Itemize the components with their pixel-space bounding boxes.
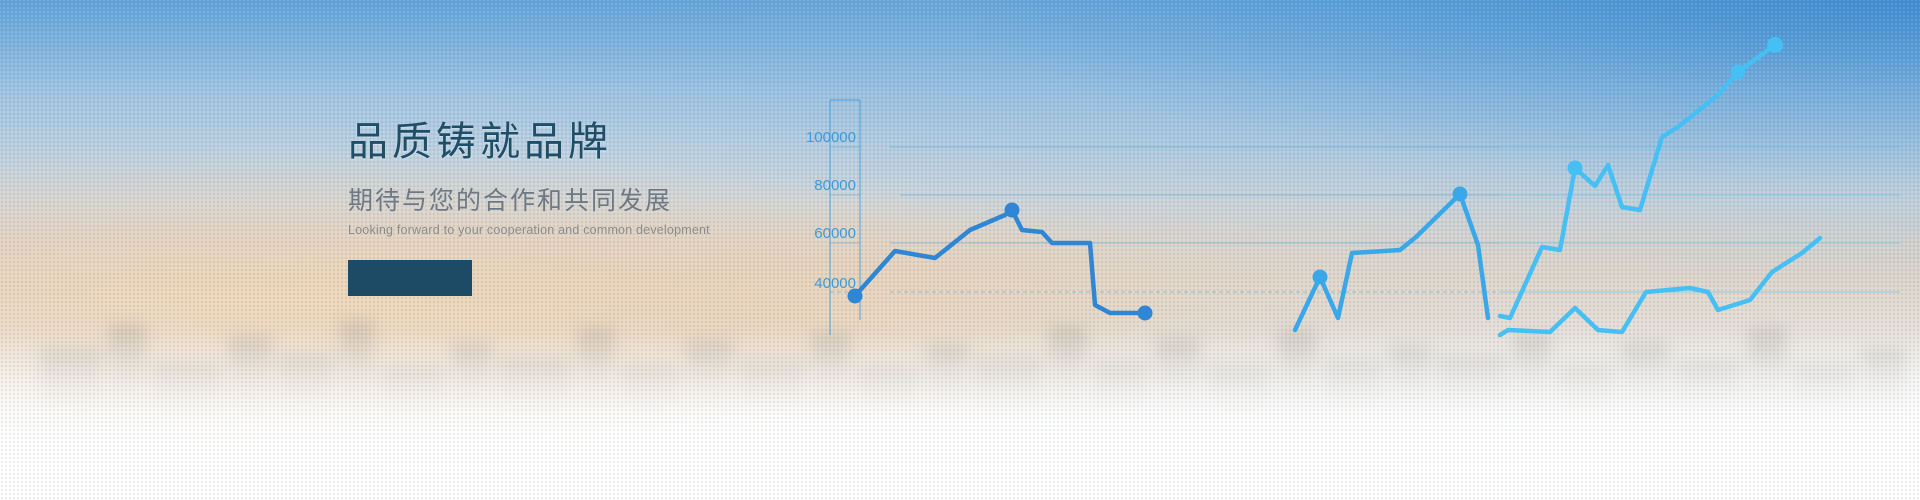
hero-subtitle: 期待与您的合作和共同发展 [348,186,778,216]
series-3-markers [1568,37,1784,176]
page-title: 品质铸就品牌 [348,120,778,164]
hero-copy-block: 品质铸就品牌 期待与您的合作和共同发展 Looking forward to y… [348,120,778,296]
hero-subtitle-english: Looking forward to your cooperation and … [348,223,778,238]
cta-button[interactable] [348,260,472,296]
y-axis-tick-80000: 80000 [814,177,856,194]
y-axis-tick-40000: 40000 [814,275,856,292]
chart-gridlines-right [1500,147,1900,292]
series-3-line [1500,45,1775,318]
y-axis-tick-60000: 60000 [814,225,856,242]
series-2-markers [1313,187,1468,285]
y-axis-tick-100000: 100000 [806,129,856,146]
decorative-line-chart: 100000 80000 60000 40000 [760,0,1920,500]
series-2-line [1295,194,1488,330]
hero-banner: 品质铸就品牌 期待与您的合作和共同发展 Looking forward to y… [0,0,1920,500]
series-1-markers [848,203,1153,321]
series-1-line [855,210,1145,313]
series-4-line [1500,238,1820,335]
chart-gridlines [830,147,1500,292]
